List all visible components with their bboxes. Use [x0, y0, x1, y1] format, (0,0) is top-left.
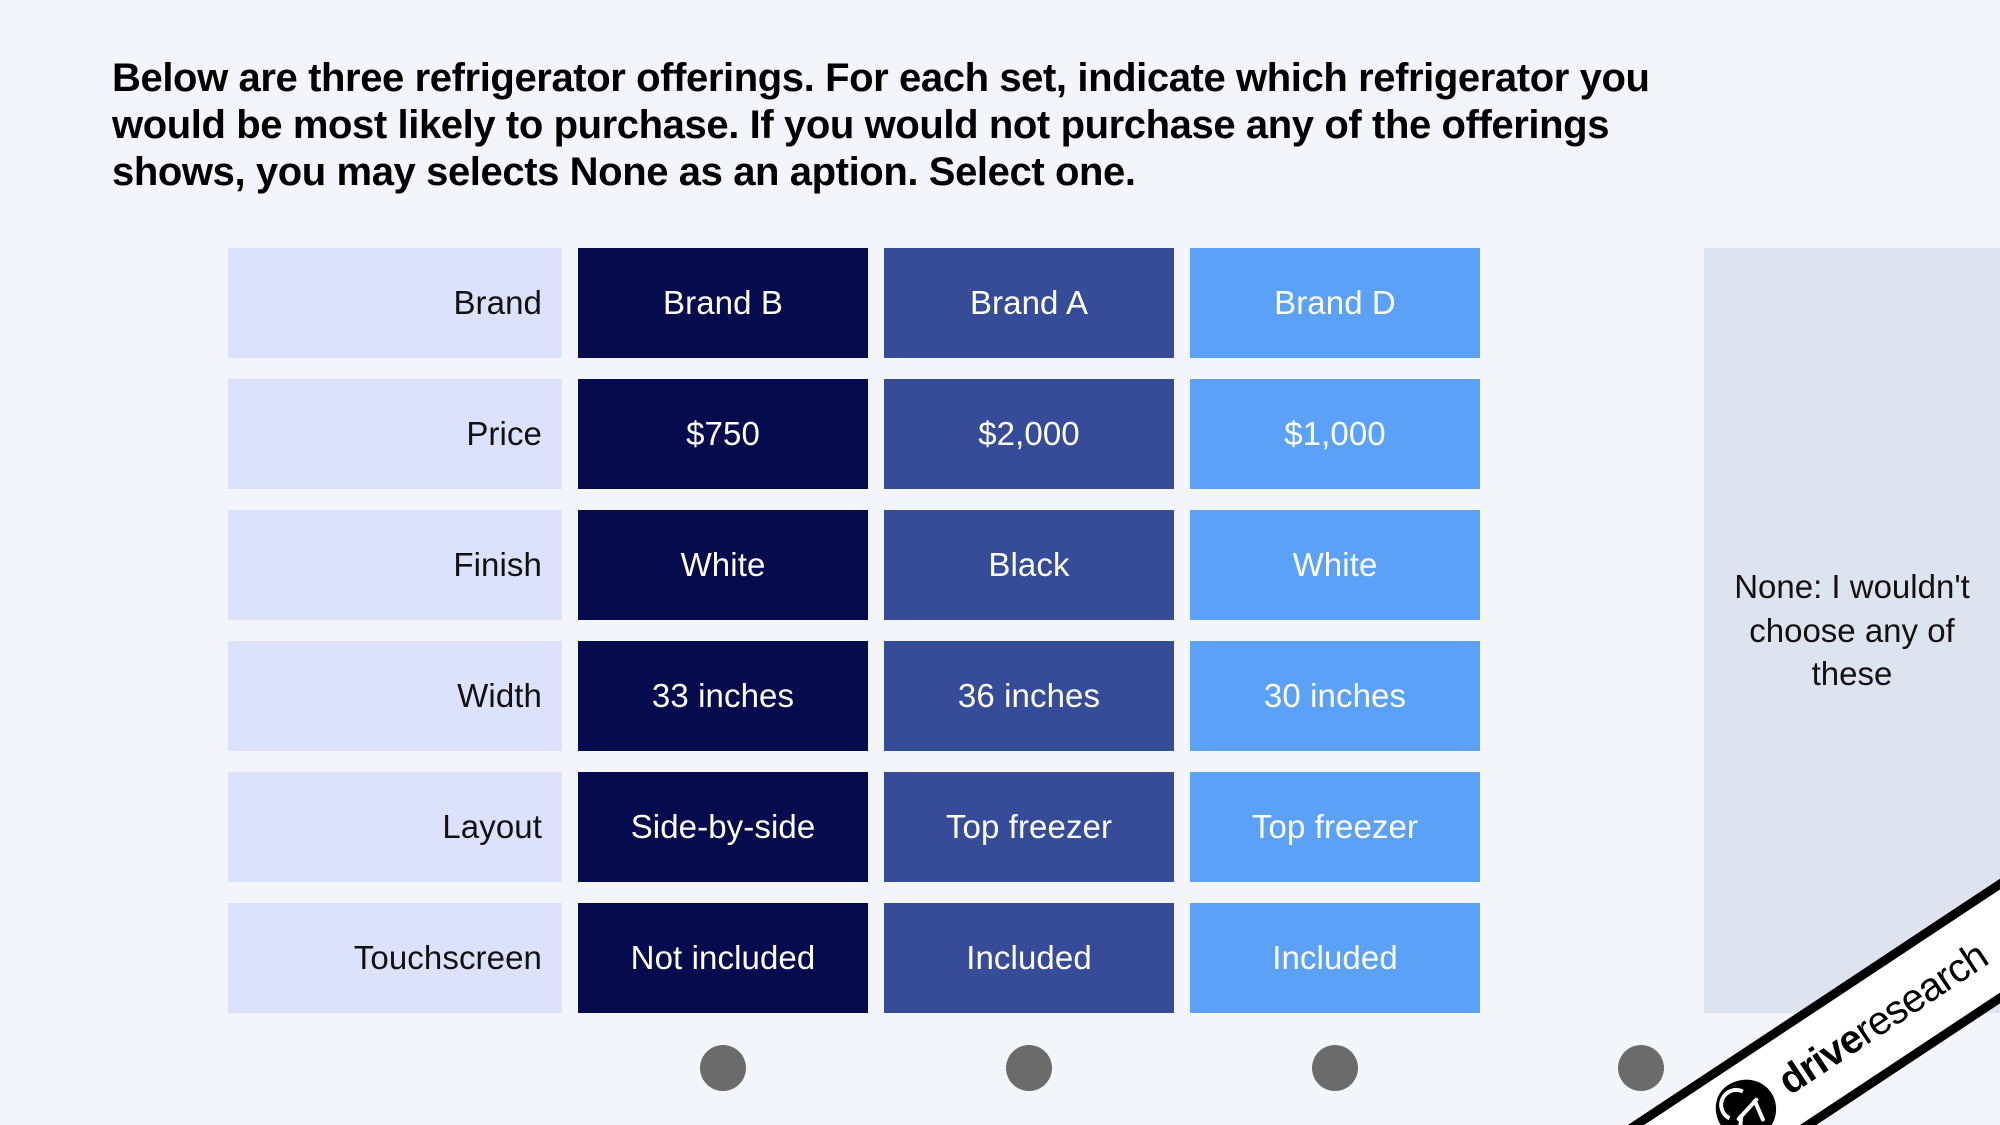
logo-spoke-c	[1738, 1114, 1743, 1125]
radio-concept-3[interactable]	[1312, 1045, 1358, 1091]
radio-slot-concept-1[interactable]	[578, 1038, 868, 1098]
radio-concept-1[interactable]	[700, 1045, 746, 1091]
attribute-label-touchscreen: Touchscreen	[228, 903, 562, 1013]
conjoint-table: Brand Brand B Brand A Brand D Price $750…	[228, 248, 1772, 1013]
radio-none[interactable]	[1618, 1045, 1664, 1091]
radio-slot-concept-3[interactable]	[1190, 1038, 1480, 1098]
concept-1-finish: White	[578, 510, 868, 620]
concept-3-finish: White	[1190, 510, 1480, 620]
concept-2-width: 36 inches	[884, 641, 1174, 751]
page-title-line-2: would be most likely to purchase. If you…	[112, 102, 1902, 149]
concept-3-layout: Top freezer	[1190, 772, 1480, 882]
concept-1-layout: Side-by-side	[578, 772, 868, 882]
selection-radio-row	[228, 1038, 1772, 1098]
concept-1-width: 33 inches	[578, 641, 868, 751]
page-title-line-3: shows, you may selects None as an aption…	[112, 149, 1902, 196]
drive-research-logo-icon	[1704, 1068, 1787, 1125]
radio-slot-attributes	[228, 1038, 562, 1098]
concept-2-price: $2,000	[884, 379, 1174, 489]
concept-3-price: $1,000	[1190, 379, 1480, 489]
concept-3-touchscreen: Included	[1190, 903, 1480, 1013]
attribute-label-brand: Brand	[228, 248, 562, 358]
radio-slot-concept-2[interactable]	[884, 1038, 1174, 1098]
radio-concept-2[interactable]	[1006, 1045, 1052, 1091]
none-option-panel[interactable]: None: I wouldn't choose any of these	[1704, 248, 2000, 1013]
concept-2-brand: Brand A	[884, 248, 1174, 358]
concept-1-brand: Brand B	[578, 248, 868, 358]
page-title: Below are three refrigerator offerings. …	[112, 55, 1902, 197]
attribute-label-finish: Finish	[228, 510, 562, 620]
attribute-label-price: Price	[228, 379, 562, 489]
page-title-line-1: Below are three refrigerator offerings. …	[112, 55, 1902, 102]
concept-2-layout: Top freezer	[884, 772, 1174, 882]
concept-2-finish: Black	[884, 510, 1174, 620]
attribute-label-layout: Layout	[228, 772, 562, 882]
concept-2-touchscreen: Included	[884, 903, 1174, 1013]
concept-3-brand: Brand D	[1190, 248, 1480, 358]
concept-1-price: $750	[578, 379, 868, 489]
attribute-label-width: Width	[228, 641, 562, 751]
concept-1-touchscreen: Not included	[578, 903, 868, 1013]
concept-3-width: 30 inches	[1190, 641, 1480, 751]
conjoint-grid: Brand Brand B Brand A Brand D Price $750…	[228, 248, 1772, 1013]
